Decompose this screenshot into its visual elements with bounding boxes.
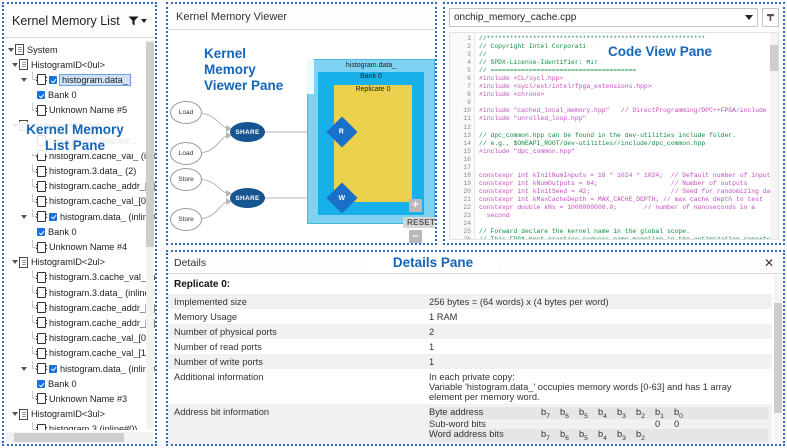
- memory-replicate-label: Replicate 0: [334, 86, 412, 93]
- details-row-key: Implemented size: [168, 294, 423, 309]
- details-row-value: Byte addressb7b6b5b4b3b2b1b0Sub-word bit…: [423, 404, 772, 444]
- tree-connector: [28, 285, 37, 300]
- tree-connector: [28, 148, 37, 163]
- chevron-down-icon: [8, 48, 14, 52]
- memory-icon: [37, 196, 46, 207]
- tree-item[interactable]: histogram.data_ (inline#0): [4, 209, 155, 224]
- code-line: #include <CL/sycl.hpp>: [479, 75, 770, 83]
- tree-connector: [28, 179, 37, 194]
- tree-item-label: Bank 0: [48, 379, 77, 389]
- kernel-memory-viewer-title: Kernel Memory Viewer: [176, 11, 427, 23]
- tree-expand-toggle[interactable]: [10, 412, 19, 416]
- details-pane: Details ✕ Replicate 0: Implemented size2…: [166, 250, 785, 446]
- tree-expand-toggle[interactable]: [10, 260, 19, 264]
- tree-expand-toggle[interactable]: [19, 215, 28, 219]
- document-icon: [19, 120, 28, 131]
- code-view-pane: onchip_memory_cache.cpp 1234567891011121…: [443, 2, 785, 245]
- tree-item[interactable]: histogram.cache_val_[1] (inline#2: [4, 346, 155, 361]
- code-line: [479, 99, 770, 107]
- reset-button[interactable]: RESET: [403, 217, 437, 228]
- address-bit-cell: b5: [579, 429, 598, 442]
- document-icon: [19, 409, 28, 420]
- tree-item[interactable]: HistogramID<0ul>: [4, 57, 155, 72]
- tree-connector: [28, 209, 37, 224]
- details-row-value: 256 bytes = (64 words) x (4 bytes per wo…: [423, 294, 772, 309]
- address-bit-cell: [655, 429, 674, 442]
- address-bit-cell: 0: [655, 419, 674, 429]
- address-bit-cell: [674, 429, 693, 442]
- memory-icon: [37, 272, 46, 283]
- details-row: Number of write ports1: [168, 354, 772, 369]
- address-bit-row: Word address bitsb7b6b5b4b3b2: [429, 429, 768, 442]
- tree-connector: [28, 72, 37, 87]
- address-bit-cell: [617, 419, 636, 429]
- code-line-number: 10: [450, 107, 471, 115]
- address-bit-cell: b2: [636, 407, 655, 420]
- code-line: // e.g., $ONEAPI_ROOT/dev-utilities//inc…: [479, 140, 770, 148]
- tree-connector: [28, 194, 37, 209]
- tree-item-label: histogram.cache_val_[1] (inline#2: [49, 348, 155, 358]
- code-line-number: 22: [450, 204, 471, 212]
- code-line-number: 9: [450, 99, 471, 107]
- code-line: //: [479, 51, 770, 59]
- code-editor[interactable]: 1234567891011121314151617181920212223242…: [449, 32, 779, 240]
- memory-icon: [37, 287, 46, 298]
- file-selector-dropdown[interactable]: onchip_memory_cache.cpp: [449, 8, 758, 27]
- address-bit-cell: b0: [674, 407, 693, 420]
- code-line: // SPDX-License-Identifier: MIT: [479, 59, 770, 67]
- address-bit-cell: b3: [617, 429, 636, 442]
- tree-item[interactable]: HistogramID<2ul>: [4, 255, 155, 270]
- code-line: // dpc_common.hpp can be found in the de…: [479, 132, 770, 140]
- details-row-value: In each private copy: Variable 'histogra…: [423, 369, 772, 404]
- scrollbar-thumb[interactable]: [774, 303, 782, 413]
- tree-item[interactable]: histogram.cache_addr_[1]._value: [4, 315, 155, 330]
- code-line: //**************************************…: [479, 35, 770, 43]
- address-bit-cell: b1: [655, 407, 674, 420]
- code-line-number: 24: [450, 220, 471, 228]
- address-bit-cell: b7: [541, 407, 560, 420]
- address-bit-row: Sub-word bits00: [429, 419, 768, 429]
- details-row-value-text: 1: [429, 342, 434, 352]
- tree-item-label: histogram.3 (inline#0): [49, 424, 137, 430]
- memory-bank-label: Bank 0: [318, 73, 424, 80]
- scrollbar-thumb[interactable]: [14, 433, 124, 442]
- code-line-number: 7: [450, 83, 471, 91]
- code-line: #include <chrono>: [479, 91, 770, 99]
- code-line-number: 20: [450, 188, 471, 196]
- tree-item[interactable]: histogram.3 (inline#...: [4, 133, 155, 148]
- tree-item[interactable]: Unknown Name #4: [4, 239, 155, 254]
- chevron-down-icon: [12, 260, 18, 264]
- tree-item[interactable]: HistogramID<3ul>: [4, 407, 155, 422]
- memory-icon: [37, 242, 46, 253]
- zoom-out-button[interactable]: –: [409, 230, 422, 243]
- memory-icon: [37, 211, 46, 222]
- memory-icon: [37, 166, 46, 177]
- memory-icon: [37, 393, 46, 404]
- tree-item[interactable]: histogram.data_: [4, 72, 155, 87]
- tree-item-label: Bank 0: [48, 90, 77, 100]
- memory-icon: [37, 105, 46, 116]
- code-source-text[interactable]: //**************************************…: [475, 33, 770, 239]
- zoom-in-button[interactable]: +: [409, 199, 422, 212]
- file-name-label: onchip_memory_cache.cpp: [454, 12, 745, 23]
- code-line: // This FPGA best practice reduces name …: [479, 236, 770, 239]
- code-line-number: 15: [450, 148, 471, 156]
- tree-item-label: System: [27, 45, 58, 55]
- tree-connector: [28, 391, 37, 406]
- details-row-key: Number of physical ports: [168, 324, 423, 339]
- memory-icon: [37, 317, 46, 328]
- write-port-label: W: [339, 194, 346, 201]
- tree-item-label: histogram.cache_addr_[0]._value: [49, 303, 155, 313]
- document-icon: [15, 44, 24, 55]
- address-bit-cell: b5: [579, 407, 598, 420]
- tree-connector: [28, 103, 37, 118]
- tree-item-checkbox[interactable]: [37, 380, 45, 388]
- code-line-number: 16: [450, 156, 471, 164]
- tree-connector: [28, 315, 37, 330]
- memory-icon: [37, 424, 46, 430]
- tree-item-label: histogram.3.data_ (2): [49, 166, 136, 176]
- tree-item[interactable]: histogram.cache_val_ (inline#3): [4, 148, 155, 163]
- tree-item[interactable]: Bank 0: [4, 88, 155, 103]
- scrollbar-thumb[interactable]: [146, 42, 154, 247]
- address-bit-cell: [598, 419, 617, 429]
- details-row-key: Number of read ports: [168, 339, 423, 354]
- address-bit-cell: b4: [598, 407, 617, 420]
- tree-item-label: histogram.cache_addr_[1]._value: [49, 318, 155, 328]
- share-node-read-label: SHARE: [235, 129, 259, 136]
- load-node-2[interactable]: Load: [170, 142, 202, 165]
- tree-connector: [28, 346, 37, 361]
- details-row-value-text: 1 RAM: [429, 312, 457, 322]
- tree-item[interactable]: System: [4, 42, 155, 57]
- details-row: Number of physical ports2: [168, 324, 772, 339]
- address-bit-row-label: Sub-word bits: [429, 419, 541, 429]
- code-line: #include "cached_local_memory.hpp" // Di…: [479, 107, 770, 115]
- tree-expand-toggle[interactable]: [10, 124, 19, 128]
- share-node-write[interactable]: SHARE: [230, 188, 265, 208]
- additional-information-line: element per memory word.: [429, 392, 768, 402]
- tree-connector: [28, 240, 37, 255]
- memory-icon: [37, 348, 46, 359]
- address-bit-cell: b4: [598, 429, 617, 442]
- memory-icon: [37, 181, 46, 192]
- code-view-vertical-scrollbar[interactable]: [770, 33, 778, 239]
- address-bit-cell: b6: [560, 429, 579, 442]
- memory-block-title: histogram.data_: [308, 62, 434, 69]
- code-line-numbers: 1234567891011121314151617181920212223242…: [450, 33, 475, 239]
- code-line: constexpr int kInitSeed = 42; // Seed fo…: [479, 188, 770, 196]
- code-line-number: 6: [450, 75, 471, 83]
- details-row-value-text: 1: [429, 357, 434, 367]
- details-row: Additional informationIn each private co…: [168, 369, 772, 404]
- tree-item[interactable]: histogram.cache_addr_[0]._value: [4, 179, 155, 194]
- kernel-memory-tree[interactable]: SystemHistogramID<0ul>histogram.data_Ban…: [4, 39, 155, 430]
- tree-connector: [28, 300, 37, 315]
- details-title: Details: [174, 257, 761, 269]
- address-bit-row-label: Byte address: [429, 407, 541, 420]
- close-icon[interactable]: ✕: [761, 257, 777, 269]
- code-line: // Forward declare the kernel name in th…: [479, 228, 770, 236]
- address-bit-information-key: Address bit information: [168, 404, 423, 444]
- kernel-memory-list-vertical-scrollbar[interactable]: [146, 40, 154, 429]
- details-vertical-scrollbar[interactable]: [774, 275, 782, 442]
- tree-item[interactable]: histogram.3.data_ (inline#3): [4, 285, 155, 300]
- pin-button[interactable]: [762, 8, 779, 27]
- tree-item[interactable]: histogram.cache_val_[0] (inline#1: [4, 194, 155, 209]
- tree-item[interactable]: histogram.3.cache_val_ (inline#4): [4, 270, 155, 285]
- details-table: Implemented size256 bytes = (64 words) x…: [168, 294, 772, 444]
- additional-information-line: In each private copy:: [429, 372, 768, 382]
- code-view-toolbar: onchip_memory_cache.cpp: [445, 4, 783, 30]
- store-node-1-label: Store: [178, 176, 194, 183]
- document-icon: [19, 59, 28, 70]
- load-node-2-label: Load: [179, 150, 193, 157]
- code-line-number: 18: [450, 172, 471, 180]
- chevron-down-icon: [12, 412, 18, 416]
- tree-item[interactable]: histogram.data_ (inline#0): [4, 361, 155, 376]
- code-line-number: 12: [450, 124, 471, 132]
- code-line-number: 1: [450, 35, 471, 43]
- tree-item-label: histogram.3.cache_val_ (inline#4): [49, 272, 155, 282]
- tree-expand-toggle[interactable]: [19, 367, 28, 371]
- code-line-number: 21: [450, 196, 471, 204]
- document-icon: [19, 257, 28, 268]
- tree-item[interactable]: histogram.cache_addr_[0]._value: [4, 300, 155, 315]
- code-line: constexpr int kNumOutputs = 64; // Numbe…: [479, 180, 770, 188]
- read-port-label: R: [339, 129, 344, 136]
- chevron-down-icon: [21, 215, 27, 219]
- tree-item-checkbox[interactable]: [37, 228, 45, 236]
- tree-item[interactable]: histogram.3 (inline#0): [4, 422, 155, 430]
- code-line-number: 5: [450, 67, 471, 75]
- chevron-down-icon: [745, 15, 753, 20]
- code-line: constexpr int kInitNumInputs = 16 * 1024…: [479, 172, 770, 180]
- code-line-number: 13: [450, 132, 471, 140]
- details-row: Memory Usage1 RAM: [168, 309, 772, 324]
- code-line: #include "dpc_common.hpp": [479, 148, 770, 156]
- tree-expand-toggle[interactable]: [10, 63, 19, 67]
- tree-item-checkbox[interactable]: [49, 76, 57, 84]
- tree-item-label: histogram.data_ (inline#0): [60, 364, 155, 374]
- code-line: #include <sycl/ext/intel/fpga_extensions…: [479, 83, 770, 91]
- code-line: // =====================================…: [479, 67, 770, 75]
- code-line-number: 11: [450, 115, 471, 123]
- share-node-read[interactable]: SHARE: [230, 122, 265, 142]
- address-bit-cell: b6: [560, 407, 579, 420]
- details-row-value: 1: [423, 339, 772, 354]
- tree-connector: [28, 270, 37, 285]
- additional-information-key: Additional information: [168, 369, 423, 404]
- address-bit-cell: [541, 419, 560, 429]
- chevron-down-icon: [12, 124, 18, 128]
- tree-item[interactable]: Unknown Name #3: [4, 391, 155, 406]
- code-line-number: 14: [450, 140, 471, 148]
- chevron-down-icon: [21, 78, 27, 82]
- kernel-memory-list-horizontal-scrollbar[interactable]: [6, 432, 153, 443]
- address-bit-cell: [579, 419, 598, 429]
- tree-item[interactable]: Bank 0: [4, 376, 155, 391]
- code-line: [479, 164, 770, 172]
- tree-item[interactable]: HistogramID<1ul>: [4, 118, 155, 133]
- tree-item-label: HistogramID<1ul>: [31, 121, 105, 131]
- tree-connector: [28, 164, 37, 179]
- code-line: // Copyright Intel Corporation: [479, 43, 770, 51]
- tree-item-checkbox[interactable]: [37, 91, 45, 99]
- memory-icon: [37, 74, 46, 85]
- chevron-down-icon: [21, 367, 27, 371]
- details-row: Number of read ports1: [168, 339, 772, 354]
- tree-item-label: Bank 0: [48, 227, 77, 237]
- address-bit-cell: b7: [541, 429, 560, 442]
- kernel-memory-list-header: Kernel Memory List: [4, 4, 155, 38]
- load-node-1-label: Load: [179, 109, 193, 116]
- details-row: Address bit informationByte addressb7b6b…: [168, 404, 772, 444]
- filter-button[interactable]: [128, 16, 147, 26]
- store-node-2[interactable]: Store: [170, 208, 202, 231]
- code-line-number: 3: [450, 51, 471, 59]
- store-node-2-label: Store: [178, 216, 194, 223]
- additional-information-text: In each private copy: Variable 'histogra…: [429, 372, 768, 402]
- address-bit-row: Byte addressb7b6b5b4b3b2b1b0: [429, 407, 768, 420]
- memory-icon: [37, 363, 46, 374]
- details-subtitle: Replicate 0:: [168, 275, 783, 294]
- code-line-number: 17: [450, 164, 471, 172]
- details-body: Replicate 0: Implemented size256 bytes =…: [168, 275, 783, 444]
- address-bit-cell: b3: [617, 407, 636, 420]
- tree-connector: [28, 361, 37, 376]
- tree-item-label: histogram.data_ (inline#0): [60, 212, 155, 222]
- code-line: #include "unrolled_loop.hpp": [479, 115, 770, 123]
- memory-icon: [37, 150, 46, 161]
- details-row-value: 1 RAM: [423, 309, 772, 324]
- kernel-memory-list-pane: Kernel Memory List SystemHistogramID<0ul…: [2, 2, 157, 446]
- tree-item-checkbox[interactable]: [49, 213, 57, 221]
- tree-item-checkbox[interactable]: [49, 365, 57, 373]
- address-bit-cell: 0: [674, 419, 693, 429]
- code-line-number: 2: [450, 43, 471, 51]
- tree-item-label: Unknown Name #4: [49, 242, 127, 252]
- chevron-down-icon: [12, 63, 18, 67]
- code-line: [479, 156, 770, 164]
- chevron-down-icon: [141, 19, 147, 23]
- tree-item-label: HistogramID<2ul>: [31, 257, 105, 267]
- details-row-value: 1: [423, 354, 772, 369]
- load-node-1[interactable]: Load: [170, 101, 202, 124]
- tree-item[interactable]: histogram.cache_val_[0] (inline#1: [4, 331, 155, 346]
- memory-icon: [37, 302, 46, 313]
- tree-item-label: histogram.3 (inline#...: [49, 136, 137, 146]
- funnel-icon: [128, 16, 139, 26]
- tree-item-label: histogram.cache_val_ (inline#3): [49, 151, 155, 161]
- tree-item-label: histogram.cache_val_[0] (inline#1: [49, 196, 155, 206]
- tree-item-label: histogram.3.data_ (inline#3): [49, 288, 155, 298]
- address-bit-table: Byte addressb7b6b5b4b3b2b1b0Sub-word bit…: [429, 407, 768, 443]
- details-row-value: 2: [423, 324, 772, 339]
- tree-item-label: HistogramID<0ul>: [31, 60, 105, 70]
- tree-connector: [28, 331, 37, 346]
- details-row-value-text: 256 bytes = (64 words) x (4 bytes per wo…: [429, 297, 609, 307]
- details-row-value-text: 2: [429, 327, 434, 337]
- code-line: constexpr int kMaxCacheDepth = MAX_CACHE…: [479, 196, 770, 204]
- store-node-1[interactable]: Store: [170, 168, 202, 191]
- code-line-number: 23: [450, 212, 471, 220]
- address-bit-cell: [560, 419, 579, 429]
- kernel-memory-viewer-canvas[interactable]: Load Load Store Store SHARE SHARE histog…: [168, 31, 435, 243]
- details-row-key: Memory Usage: [168, 309, 423, 324]
- code-line-number: 25: [450, 228, 471, 236]
- details-row: Implemented size256 bytes = (64 words) x…: [168, 294, 772, 309]
- tree-expand-toggle[interactable]: [6, 48, 15, 52]
- memory-icon: [37, 333, 46, 344]
- details-header: Details ✕: [168, 252, 783, 274]
- code-line: [479, 220, 770, 228]
- tree-item-label: histogram.cache_val_[0] (inline#1: [49, 333, 155, 343]
- code-line-number: 8: [450, 91, 471, 99]
- tree-item[interactable]: histogram.3.data_ (2): [4, 164, 155, 179]
- memory-icon: [37, 135, 46, 146]
- address-bit-cell: b2: [636, 429, 655, 442]
- scrollbar-thumb[interactable]: [770, 45, 778, 71]
- share-node-write-label: SHARE: [235, 195, 259, 202]
- tree-connector: [28, 133, 37, 148]
- code-line: second: [479, 212, 770, 220]
- tree-expand-toggle[interactable]: [19, 78, 28, 82]
- address-bit-cell: [636, 419, 655, 429]
- code-line-number: 19: [450, 180, 471, 188]
- kernel-memory-viewer-pane: Kernel Memory Viewer Load: [166, 2, 437, 245]
- kernel-memory-viewer-header: Kernel Memory Viewer: [168, 4, 435, 30]
- tree-item-label: HistogramID<3ul>: [31, 409, 105, 419]
- code-line: [479, 124, 770, 132]
- address-bit-row-label: Word address bits: [429, 429, 541, 442]
- details-row-key: Number of write ports: [168, 354, 423, 369]
- tree-item-label: Unknown Name #5: [49, 105, 127, 115]
- tree-item-label: histogram.data_: [59, 74, 131, 86]
- code-line: constexpr double kNs = 1000000000.0; // …: [479, 204, 770, 212]
- tree-item[interactable]: Unknown Name #5: [4, 103, 155, 118]
- pin-icon: [766, 13, 775, 22]
- code-line-number: 26: [450, 236, 471, 240]
- kernel-memory-list-title: Kernel Memory List: [12, 14, 128, 28]
- tree-item-label: histogram.cache_addr_[0]._value: [49, 181, 155, 191]
- tree-item[interactable]: Bank 0: [4, 224, 155, 239]
- code-line-number: 4: [450, 59, 471, 67]
- additional-information-line: Variable 'histogram.data_' occupies memo…: [429, 382, 768, 392]
- tree-item-label: Unknown Name #3: [49, 394, 127, 404]
